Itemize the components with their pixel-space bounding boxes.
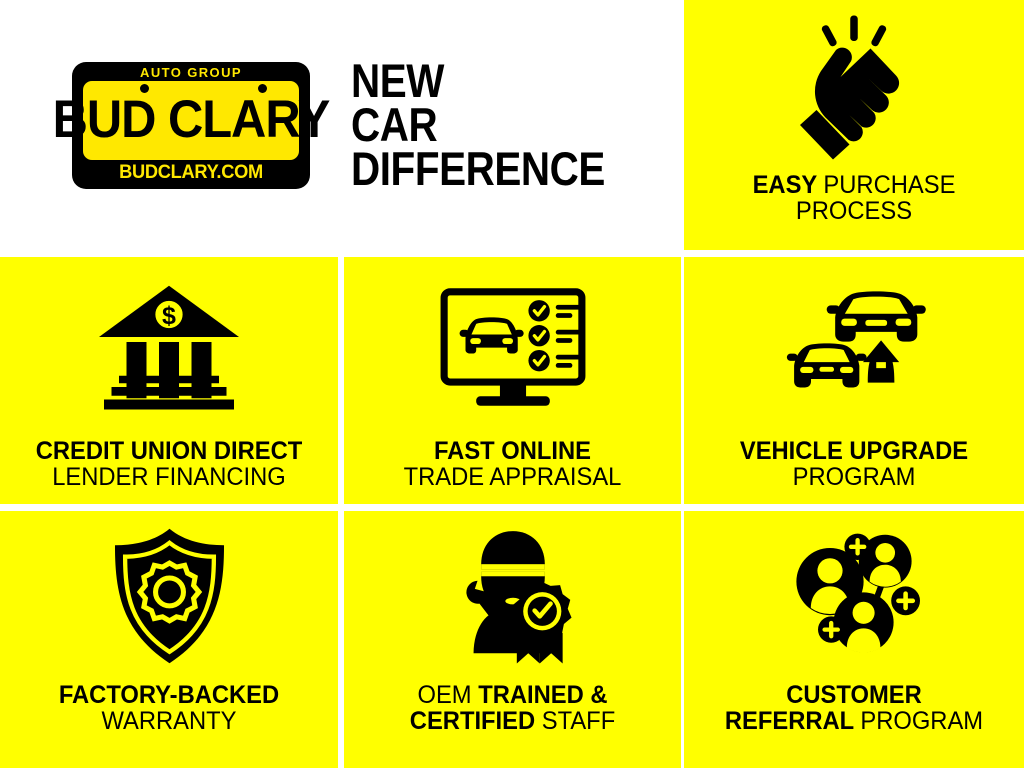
panel-fast-online-trade-appraisal[interactable]: FAST ONLINE TRADE APPRAISAL (344, 257, 681, 504)
header-panel: AUTO GROUP BUD CLARY BUDCLARY.COM NEW CA… (0, 0, 681, 250)
panel-caption: EASY PURCHASE PROCESS (684, 172, 1024, 251)
caption-line-2: PROGRAM (693, 464, 1016, 490)
caption-line-2: REFERRAL PROGRAM (693, 708, 1016, 734)
icon-container (684, 257, 1024, 438)
caption-segment: FAST ONLINE (434, 437, 591, 465)
page-title: NEW CAR DIFFERENCE (351, 59, 605, 192)
caption-line-2: PROCESS (693, 198, 1016, 224)
icon-container (0, 511, 338, 682)
people-network-referral-icon (784, 530, 924, 662)
shield-gear-icon (106, 525, 233, 667)
caption-segment: CERTIFIED (410, 707, 542, 735)
caption-line-2: TRADE APPRAISAL (352, 464, 672, 490)
panel-caption: CUSTOMER REFERRAL PROGRAM (684, 682, 1024, 768)
caption-line-1: FACTORY-BACKED (8, 682, 329, 708)
caption-line-1: CREDIT UNION DIRECT (8, 438, 329, 464)
caption-line-1: FAST ONLINE (352, 438, 672, 464)
panel-caption: VEHICLE UPGRADE PROGRAM (684, 438, 1024, 505)
caption-segment: PROGRAM (793, 463, 916, 491)
svg-text:$: $ (162, 302, 176, 330)
icon-container (344, 511, 681, 682)
caption-segment: CREDIT UNION DIRECT (36, 437, 303, 465)
plate-screw-icon (140, 84, 149, 93)
caption-segment: PURCHASE (823, 171, 955, 199)
panel-factory-backed-warranty[interactable]: FACTORY-BACKED WARRANTY (0, 511, 338, 768)
caption-segment: REFERRAL (725, 707, 860, 735)
icon-container (344, 257, 681, 438)
caption-segment: OEM (417, 681, 478, 709)
logo-brand-text: BUD CLARY (79, 79, 304, 155)
monitor-car-checklist-icon (437, 287, 589, 407)
caption-line-1: VEHICLE UPGRADE (693, 438, 1016, 464)
caption-line-1: EASY PURCHASE (693, 172, 1016, 198)
bank-building-dollar-icon: $ (94, 283, 244, 411)
two-cars-upgrade-arrow-icon (782, 286, 927, 408)
logo-auto-group-text: AUTO GROUP (72, 64, 310, 81)
mechanic-wrench-award-icon (443, 526, 583, 666)
caption-segment: FACTORY-BACKED (59, 681, 279, 709)
caption-line-2: CERTIFIED STAFF (352, 708, 672, 734)
caption-line-2: WARRANTY (8, 708, 329, 734)
icon-container (684, 0, 1024, 172)
caption-segment: EASY (753, 171, 824, 199)
headline-line-2: CAR (351, 103, 605, 147)
bud-clary-logo: AUTO GROUP BUD CLARY BUDCLARY.COM (72, 62, 310, 189)
caption-line-1: CUSTOMER (693, 682, 1016, 708)
panel-customer-referral-program[interactable]: CUSTOMER REFERRAL PROGRAM (684, 511, 1024, 768)
caption-segment: PROGRAM (860, 707, 983, 735)
caption-segment: CUSTOMER (786, 681, 921, 709)
pointing-hand-click-icon (779, 11, 929, 161)
panel-easy-purchase-process[interactable]: EASY PURCHASE PROCESS (684, 0, 1024, 250)
infographic-sheet: AUTO GROUP BUD CLARY BUDCLARY.COM NEW CA… (0, 0, 1024, 768)
caption-segment: WARRANTY (101, 707, 236, 735)
panel-caption: FACTORY-BACKED WARRANTY (0, 682, 338, 768)
panel-oem-trained-certified-staff[interactable]: OEM TRAINED & CERTIFIED STAFF (344, 511, 681, 768)
panel-caption: OEM TRAINED & CERTIFIED STAFF (344, 682, 681, 768)
caption-segment: TRADE APPRAISAL (404, 463, 622, 491)
caption-line-1: OEM TRAINED & (352, 682, 672, 708)
caption-segment: TRAINED & (478, 681, 607, 709)
caption-segment: VEHICLE UPGRADE (740, 437, 968, 465)
icon-container: $ (0, 257, 338, 438)
panel-vehicle-upgrade-program[interactable]: VEHICLE UPGRADE PROGRAM (684, 257, 1024, 504)
logo-website-text: BUDCLARY.COM (87, 160, 294, 186)
icon-container (684, 511, 1024, 682)
caption-segment: STAFF (542, 707, 615, 735)
plate-screw-icon (258, 84, 267, 93)
headline-line-1: NEW (351, 59, 605, 103)
panel-credit-union-direct[interactable]: $ CREDIT UNION DIRECT LENDER FINANCING (0, 257, 338, 504)
caption-segment: PROCESS (796, 197, 912, 225)
panel-caption: FAST ONLINE TRADE APPRAISAL (344, 438, 681, 505)
panel-caption: CREDIT UNION DIRECT LENDER FINANCING (0, 438, 338, 505)
caption-line-2: LENDER FINANCING (8, 464, 329, 490)
caption-segment: LENDER FINANCING (52, 463, 286, 491)
headline-line-3: DIFFERENCE (351, 147, 605, 191)
